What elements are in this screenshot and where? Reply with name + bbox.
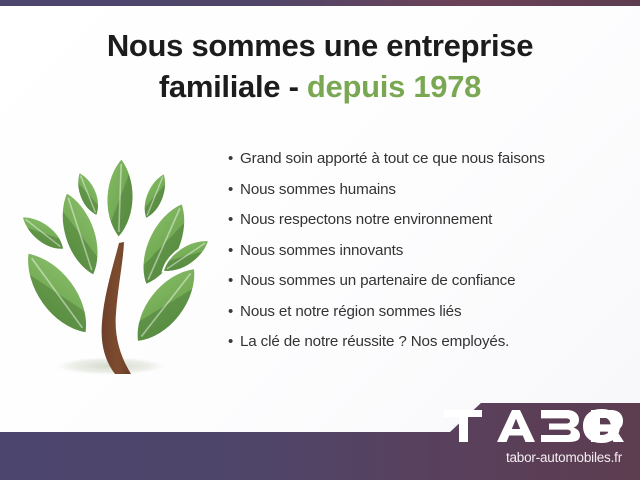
headline-line-2: familiale - depuis 1978 xyxy=(0,67,640,108)
slide-canvas: Nous sommes une entreprise familiale - d… xyxy=(0,0,640,480)
list-item-label: Nous sommes un partenaire de confiance xyxy=(240,270,515,292)
list-item: • La clé de notre réussite ? Nos employé… xyxy=(228,331,628,353)
headline-line-2-plain: familiale - xyxy=(159,69,307,104)
list-item: • Grand soin apporté à tout ce que nous … xyxy=(228,148,628,170)
list-item-label: Grand soin apporté à tout ce que nous fa… xyxy=(240,148,545,170)
bullet-icon: • xyxy=(228,301,240,323)
list-item-label: Nous sommes humains xyxy=(240,179,396,201)
top-accent-bar xyxy=(0,0,640,6)
headline-accent-since-1978: depuis 1978 xyxy=(307,69,481,104)
list-item: • Nous sommes un partenaire de confiance xyxy=(228,270,628,292)
benefits-list: • Grand soin apporté à tout ce que nous … xyxy=(228,148,628,362)
list-item: • Nous respectons notre environnement xyxy=(228,209,628,231)
bullet-icon: • xyxy=(228,270,240,292)
tree-illustration xyxy=(14,150,214,390)
bullet-icon: • xyxy=(228,209,240,231)
brand-url: tabor-automobiles.fr xyxy=(402,450,622,465)
page-title: Nous sommes une entreprise familiale - d… xyxy=(0,26,640,108)
bullet-icon: • xyxy=(228,331,240,353)
list-item: • Nous et notre région sommes liés xyxy=(228,301,628,323)
bullet-icon: • xyxy=(228,240,240,262)
list-item: • Nous sommes innovants xyxy=(228,240,628,262)
tree-trunk xyxy=(102,242,131,374)
list-item: • Nous sommes humains xyxy=(228,179,628,201)
list-item-label: La clé de notre réussite ? Nos employés. xyxy=(240,331,509,353)
leaf-top-center xyxy=(105,158,135,239)
list-item-label: Nous respectons notre environnement xyxy=(240,209,492,231)
brand-logo xyxy=(402,406,622,451)
bullet-icon: • xyxy=(228,179,240,201)
bullet-icon: • xyxy=(228,148,240,170)
list-item-label: Nous sommes innovants xyxy=(240,240,403,262)
headline-line-1: Nous sommes une entreprise xyxy=(107,28,533,63)
list-item-label: Nous et notre région sommes liés xyxy=(240,301,461,323)
